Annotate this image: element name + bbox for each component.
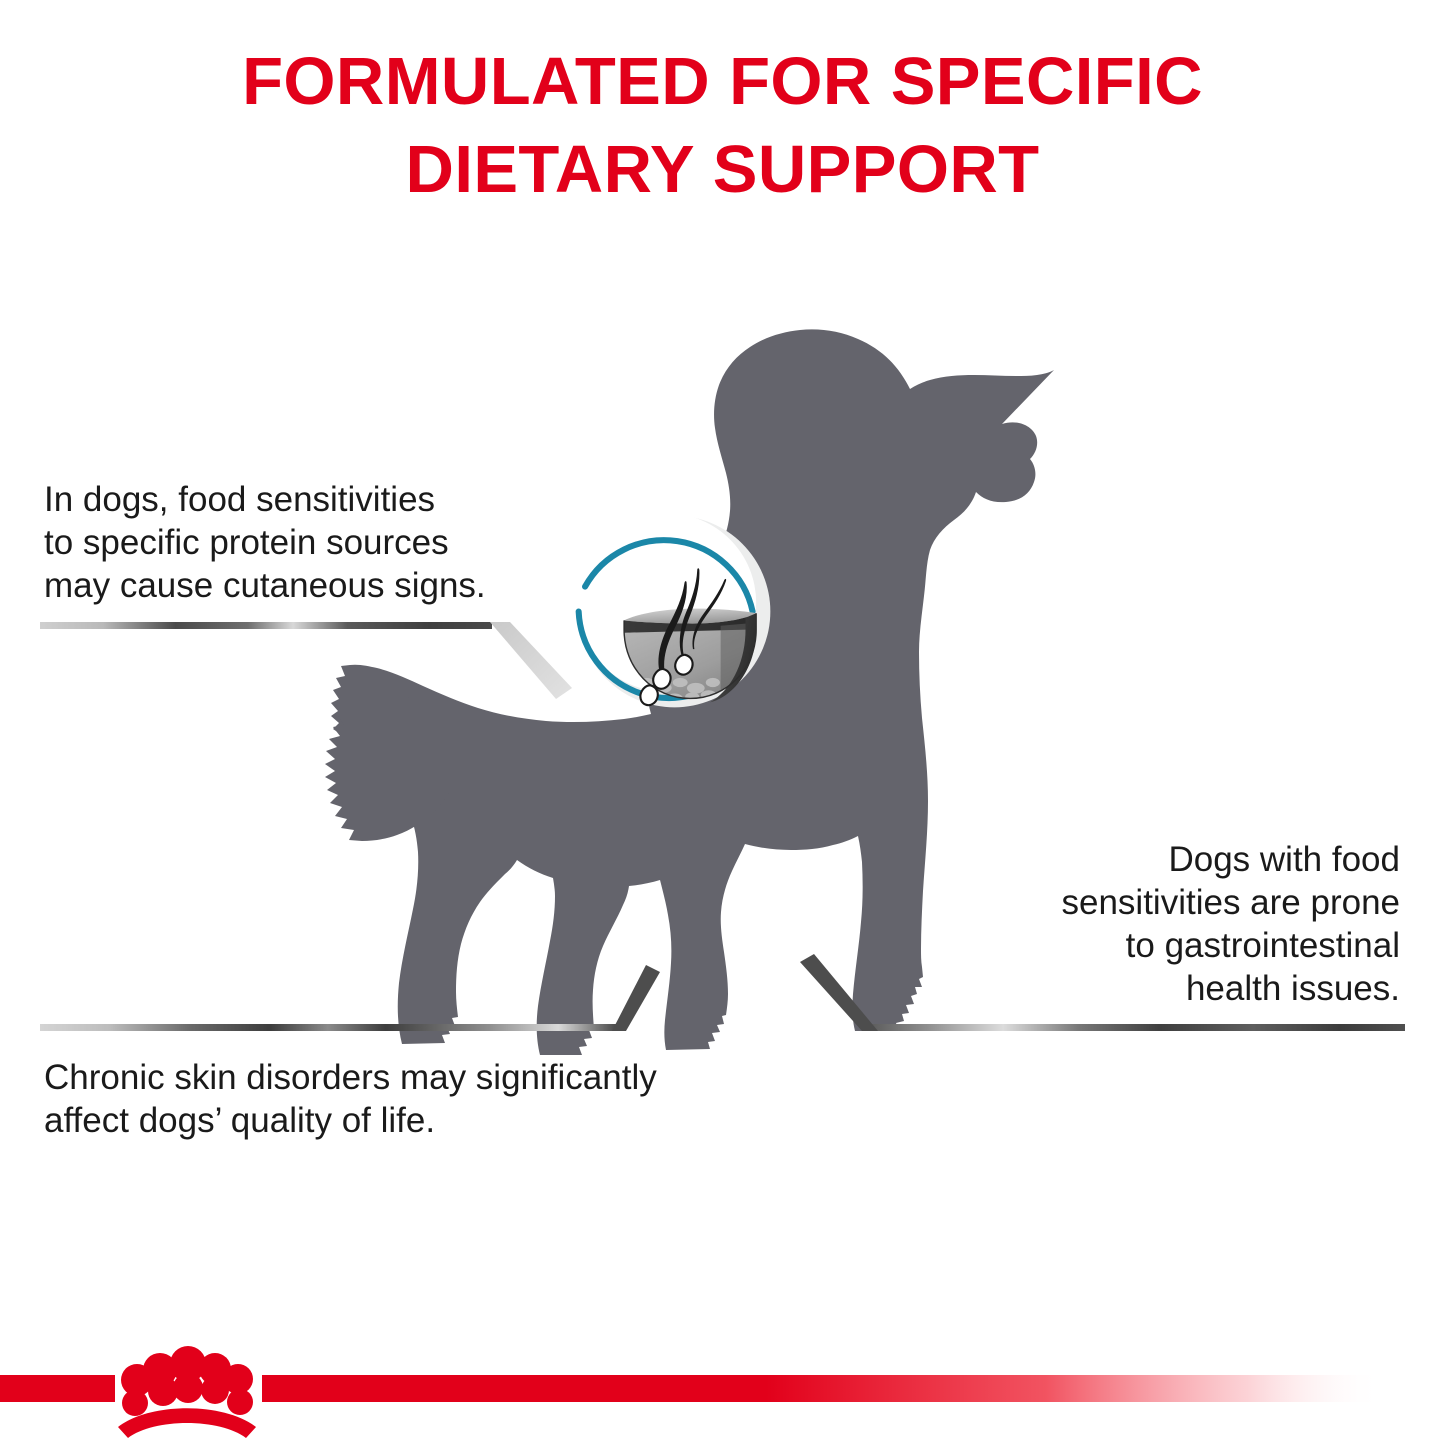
royal-canin-crown-logo <box>118 1346 256 1441</box>
gi-callout-line-4: health issues. <box>920 967 1400 1010</box>
brand-footer <box>0 1330 1445 1445</box>
illustration-canvas <box>0 0 1445 1445</box>
brand-bar-right <box>262 1375 1382 1402</box>
chronic-callout-line-2: affect dogs’ quality of life. <box>44 1099 804 1142</box>
gastrointestinal-callout: Dogs with food sensitivities are prone t… <box>920 838 1400 1010</box>
gi-callout-line-1: Dogs with food <box>920 838 1400 881</box>
skin-callout-line-1: In dogs, food sensitivities <box>44 478 564 521</box>
skin-sensitivity-callout: In dogs, food sensitivities to specific … <box>44 478 564 607</box>
chronic-skin-callout: Chronic skin disorders may significantly… <box>44 1056 804 1142</box>
infographic-page: FORMULATED FOR SPECIFIC DIETARY SUPPORT <box>0 0 1445 1445</box>
gi-callout-line-3: to gastrointestinal <box>920 924 1400 967</box>
brand-bar-left <box>0 1375 115 1402</box>
skin-callout-line-3: may cause cutaneous signs. <box>44 564 564 607</box>
skin-callout-line-2: to specific protein sources <box>44 521 564 564</box>
gi-callout-line-2: sensitivities are prone <box>920 881 1400 924</box>
leader-line-skin-callout <box>40 622 572 699</box>
chronic-callout-line-1: Chronic skin disorders may significantly <box>44 1056 804 1099</box>
